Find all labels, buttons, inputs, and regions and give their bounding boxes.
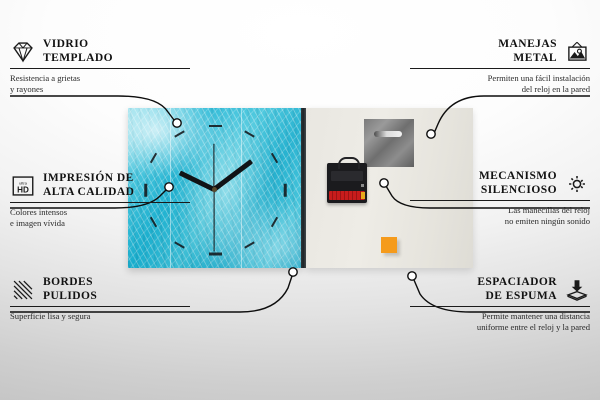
feature-heading: MANEJAS METAL — [410, 38, 590, 65]
feature-description: Las manecillas del reloj no emiten ningú… — [410, 205, 590, 226]
feature-divider — [10, 68, 190, 69]
feature-heading: ultraHD IMPRESIÓN DE ALTA CALIDAD — [10, 172, 190, 199]
battery-terminal — [361, 192, 365, 199]
feature-divider — [10, 202, 190, 203]
feature-divider — [10, 306, 190, 307]
feature-heading: VIDRIO TEMPLADO — [10, 38, 190, 65]
clock-hub — [212, 187, 217, 192]
picture-frame-icon — [564, 40, 590, 64]
feature-manejas-metal: MANEJAS METAL Permiten una fácil instala… — [410, 38, 590, 94]
connector-dot-edges — [289, 268, 297, 276]
feature-description: Colores intensos e imagen vívida — [10, 207, 190, 228]
feature-title: ESPACIADOR DE ESPUMA — [477, 276, 557, 303]
feature-description: Resistencia a grietas y rayones — [10, 73, 190, 94]
battery-compartment — [329, 191, 365, 200]
product-feature-infographic: VIDRIO TEMPLADO Resistencia a grietas y … — [0, 0, 600, 400]
feature-heading: BORDES PULIDOS — [10, 276, 190, 303]
mechanism-dot — [361, 184, 364, 187]
press-down-pad-icon — [564, 278, 590, 302]
feature-divider — [410, 306, 590, 307]
diamond-icon — [10, 40, 36, 64]
clock-mechanism — [327, 163, 367, 203]
feature-heading: ESPACIADOR DE ESPUMA — [410, 276, 590, 303]
polished-edges-icon — [10, 278, 36, 302]
feature-divider — [410, 68, 590, 69]
feature-bordes-pulidos: BORDES PULIDOS Superficie lisa y segura — [10, 276, 190, 322]
clock-tick — [284, 183, 287, 196]
feature-vidrio-templado: VIDRIO TEMPLADO Resistencia a grietas y … — [10, 38, 190, 94]
feature-description: Permiten una fácil instalación del reloj… — [410, 73, 590, 94]
hanger-slot — [374, 131, 402, 137]
feature-title: MANEJAS METAL — [498, 38, 557, 65]
feature-title: IMPRESIÓN DE ALTA CALIDAD — [43, 172, 134, 199]
feature-description: Superficie lisa y segura — [10, 311, 190, 322]
feature-title: BORDES PULIDOS — [43, 276, 97, 303]
gear-icon — [564, 172, 590, 196]
clock-tick — [209, 125, 222, 128]
feature-title: MECANISMO SILENCIOSO — [479, 170, 557, 197]
mechanism-body — [331, 171, 363, 181]
feature-description: Permite mantener una distancia uniforme … — [410, 311, 590, 332]
feature-impresion-alta-calidad: ultraHD IMPRESIÓN DE ALTA CALIDAD Colore… — [10, 172, 190, 228]
svg-text:ultra: ultra — [19, 180, 28, 185]
foam-spacer — [381, 237, 397, 253]
second-hand-tail — [213, 143, 214, 189]
feature-espaciador-de-espuma: ESPACIADOR DE ESPUMA Permite mantener un… — [410, 276, 590, 332]
second-hand — [213, 189, 214, 251]
svg-text:HD: HD — [17, 185, 29, 194]
pane-seam — [241, 108, 242, 268]
feature-title: VIDRIO TEMPLADO — [43, 38, 113, 65]
feature-divider — [410, 200, 590, 201]
metal-hanger — [364, 119, 414, 167]
mechanism-bail — [338, 157, 360, 169]
feature-mecanismo-silencioso: MECANISMO SILENCIOSO Las manecillas del … — [410, 170, 590, 226]
ultra-hd-icon: ultraHD — [10, 174, 36, 198]
clock-tick — [209, 253, 222, 256]
feature-heading: MECANISMO SILENCIOSO — [410, 170, 590, 197]
